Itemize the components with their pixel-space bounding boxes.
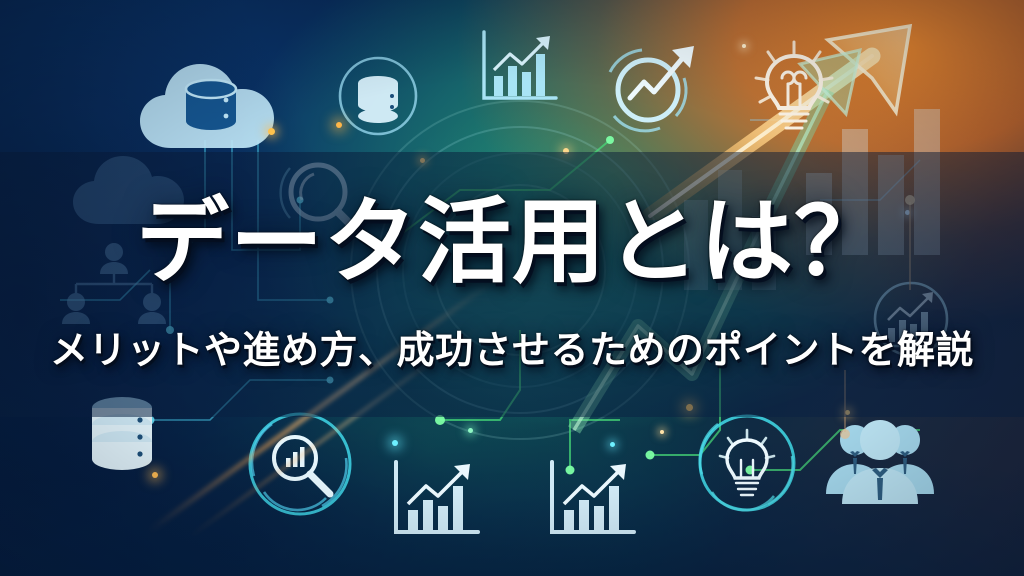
headline-container: データ活用とは？: [0, 196, 1024, 289]
subheadline-container: メリットや進め方、成功させるためのポイントを解説: [0, 331, 1024, 373]
hero-banner: データ活用とは？ メリットや進め方、成功させるためのポイントを解説: [0, 0, 1024, 576]
page-subtitle: メリットや進め方、成功させるためのポイントを解説: [50, 331, 974, 373]
page-title: データ活用とは？: [136, 196, 888, 289]
